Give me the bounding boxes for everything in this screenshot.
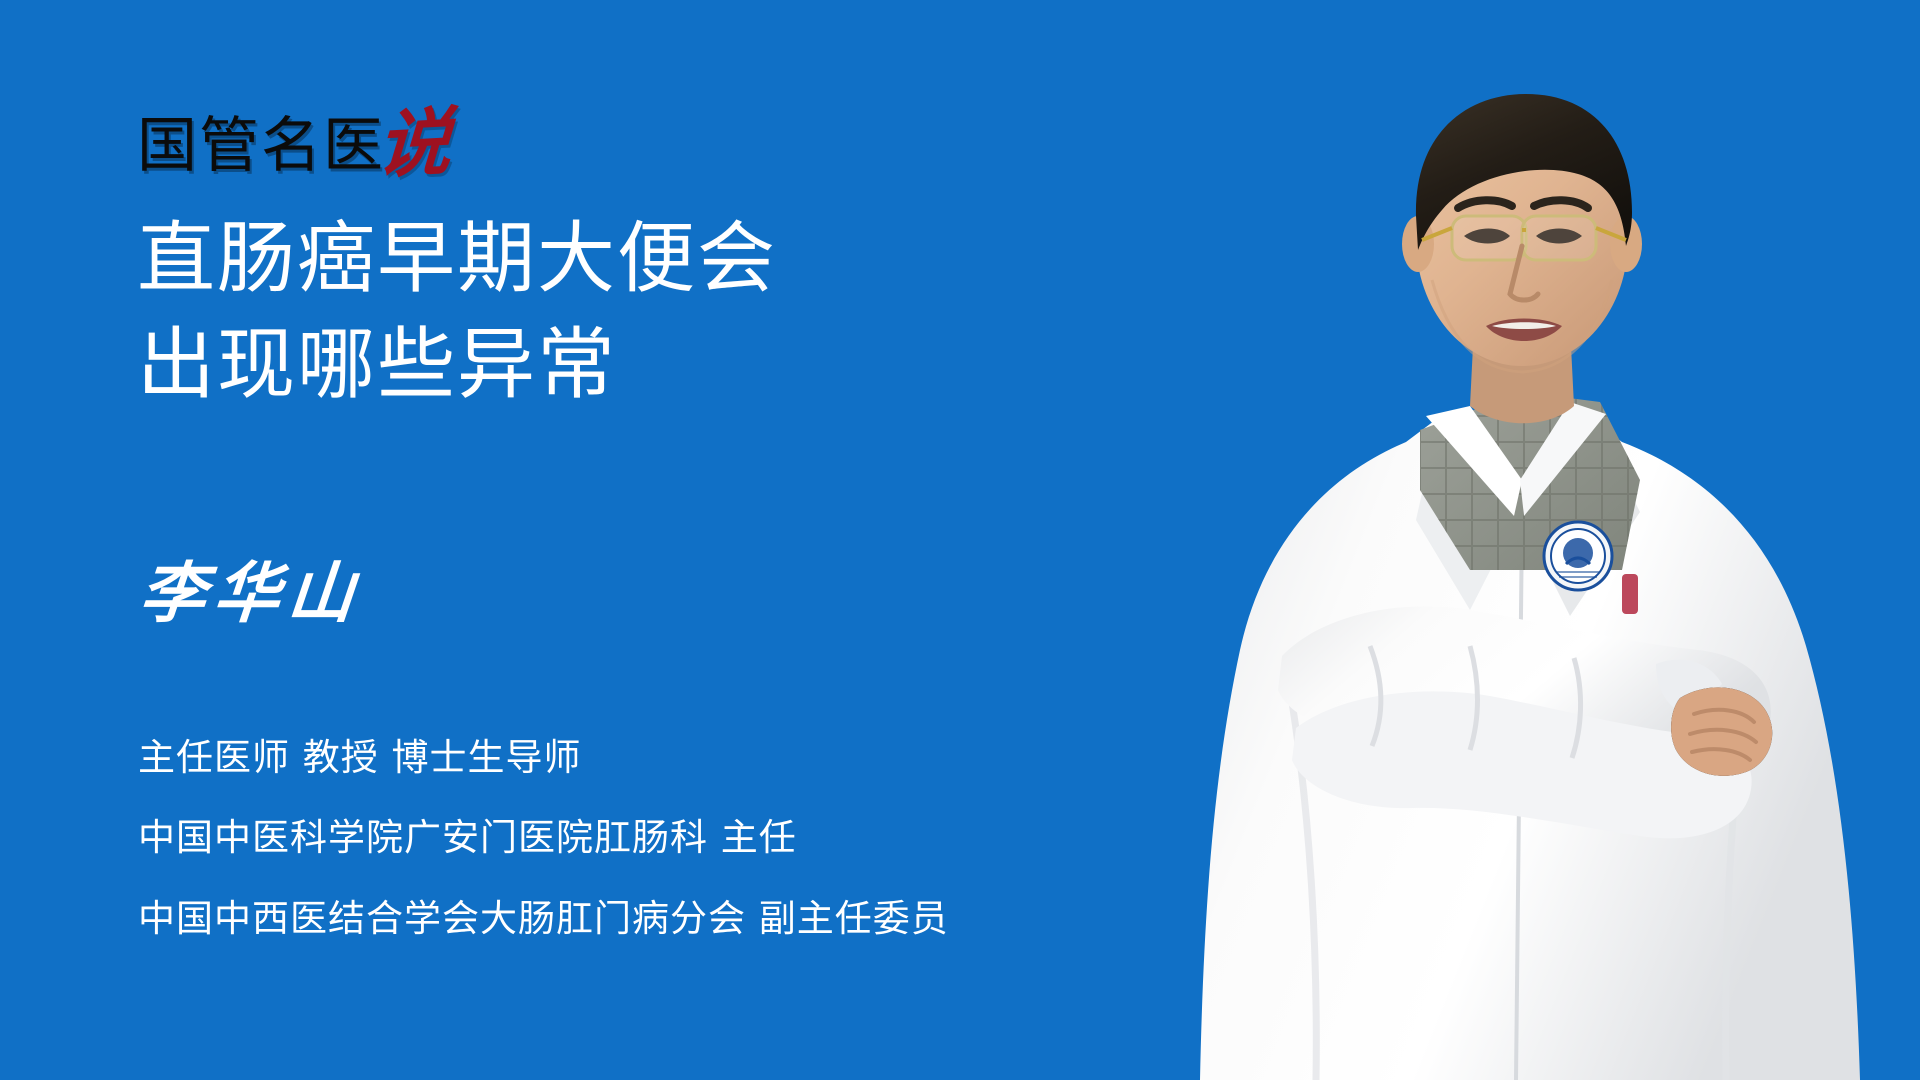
doctor-head: [1402, 94, 1642, 372]
program-logo-main-text: 国管名医: [137, 116, 385, 176]
doctor-portrait: [1170, 50, 1890, 1080]
doctor-shirt: [1410, 380, 1660, 590]
program-logo: 国管名医 说: [137, 98, 449, 176]
episode-title-line-1: 直肠癌早期大便会: [137, 206, 1137, 312]
doctor-name: 李华山: [137, 560, 365, 626]
credential-line-1: 主任医师 教授 博士生导师: [138, 718, 1238, 798]
doctor-credentials: 主任医师 教授 博士生导师 中国中医科学院广安门医院肛肠科 主任 中国中西医结合…: [138, 718, 1238, 959]
credential-line-2: 中国中医科学院广安门医院肛肠科 主任: [138, 798, 1238, 878]
badge-clip: [1622, 574, 1638, 614]
program-logo-accent-text: 说: [375, 108, 453, 180]
doctor-coat: [1200, 418, 1860, 1080]
slide-canvas: 国管名医 说 直肠癌早期大便会 出现哪些异常 李华山 主任医师 教授 博士生导师…: [0, 0, 1920, 1080]
episode-title: 直肠癌早期大便会 出现哪些异常: [137, 206, 1137, 418]
episode-title-line-2: 出现哪些异常: [137, 312, 1137, 418]
doctor-crossed-arms: [1278, 606, 1772, 838]
credential-line-3: 中国中西医结合学会大肠肛门病分会 副主任委员: [138, 879, 1238, 959]
hospital-badge: [1544, 522, 1612, 590]
eyeglasses: [1422, 216, 1626, 260]
